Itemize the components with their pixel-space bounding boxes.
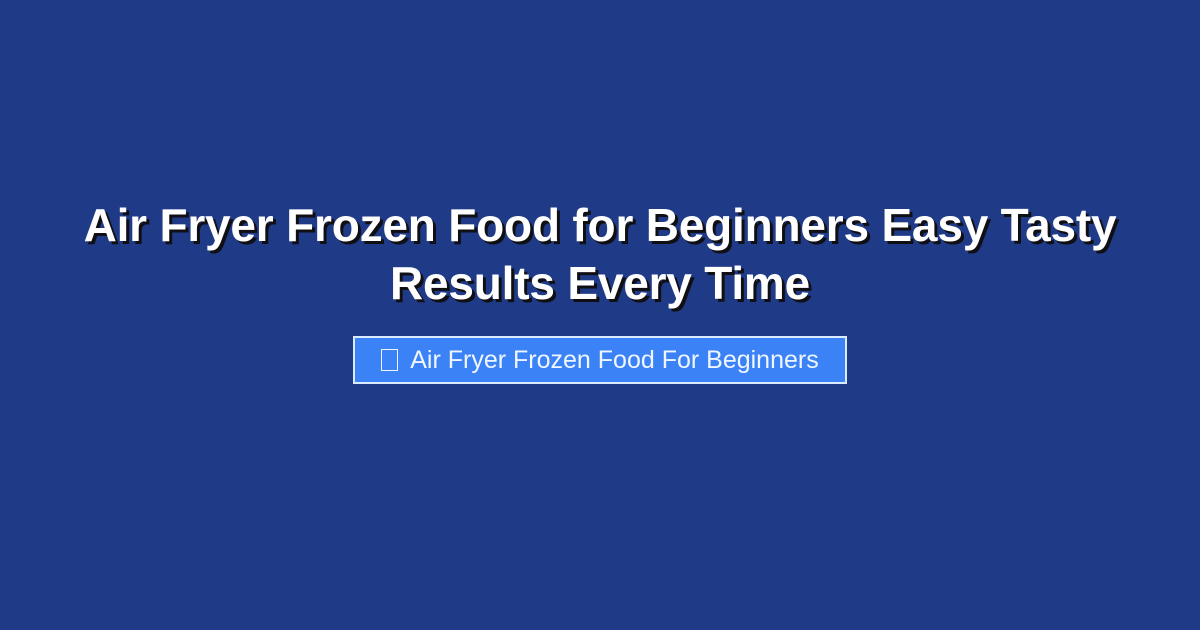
social-share-card: Air Fryer Frozen Food for Beginners Easy… bbox=[0, 0, 1200, 630]
cta-badge-button[interactable]: Air Fryer Frozen Food For Beginners bbox=[353, 336, 846, 384]
page-title: Air Fryer Frozen Food for Beginners Easy… bbox=[80, 196, 1120, 312]
title-block: Air Fryer Frozen Food for Beginners Easy… bbox=[80, 196, 1120, 312]
missing-glyph-box-icon bbox=[381, 349, 398, 371]
badge-row: Air Fryer Frozen Food For Beginners bbox=[0, 336, 1200, 384]
card-empty-area bbox=[0, 384, 1200, 630]
cta-badge-label: Air Fryer Frozen Food For Beginners bbox=[410, 348, 818, 373]
